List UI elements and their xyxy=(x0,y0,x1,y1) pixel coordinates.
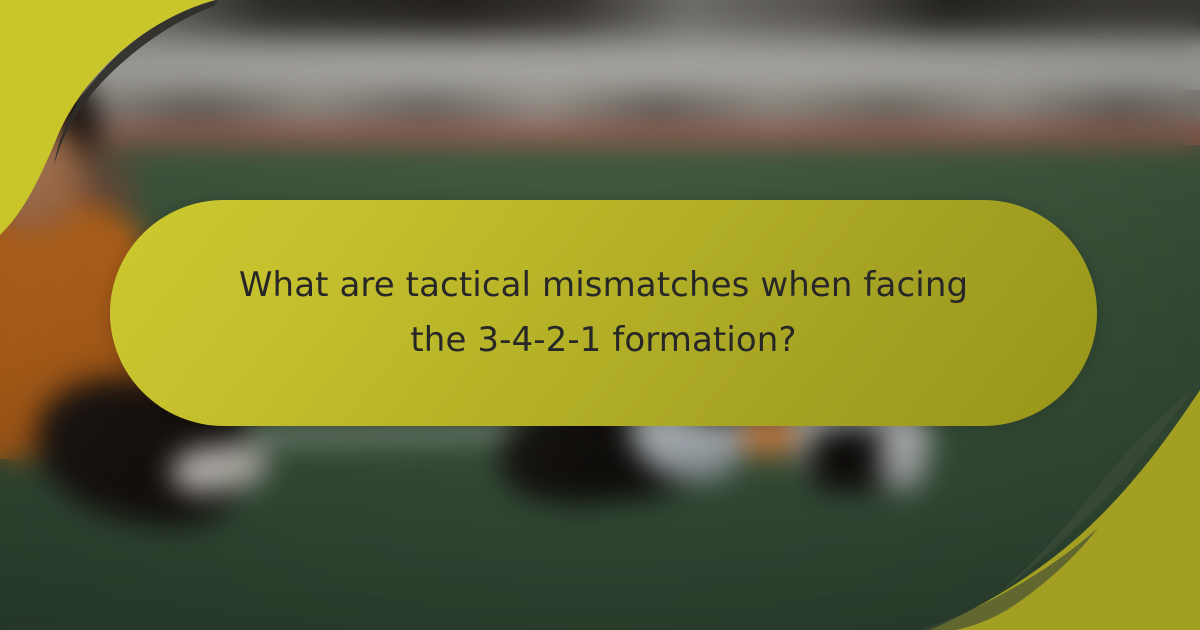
social-question-card: What are tactical mismatches when facing… xyxy=(0,0,1200,630)
question-text: What are tactical mismatches when facing… xyxy=(179,258,1028,368)
question-card: What are tactical mismatches when facing… xyxy=(110,200,1097,426)
